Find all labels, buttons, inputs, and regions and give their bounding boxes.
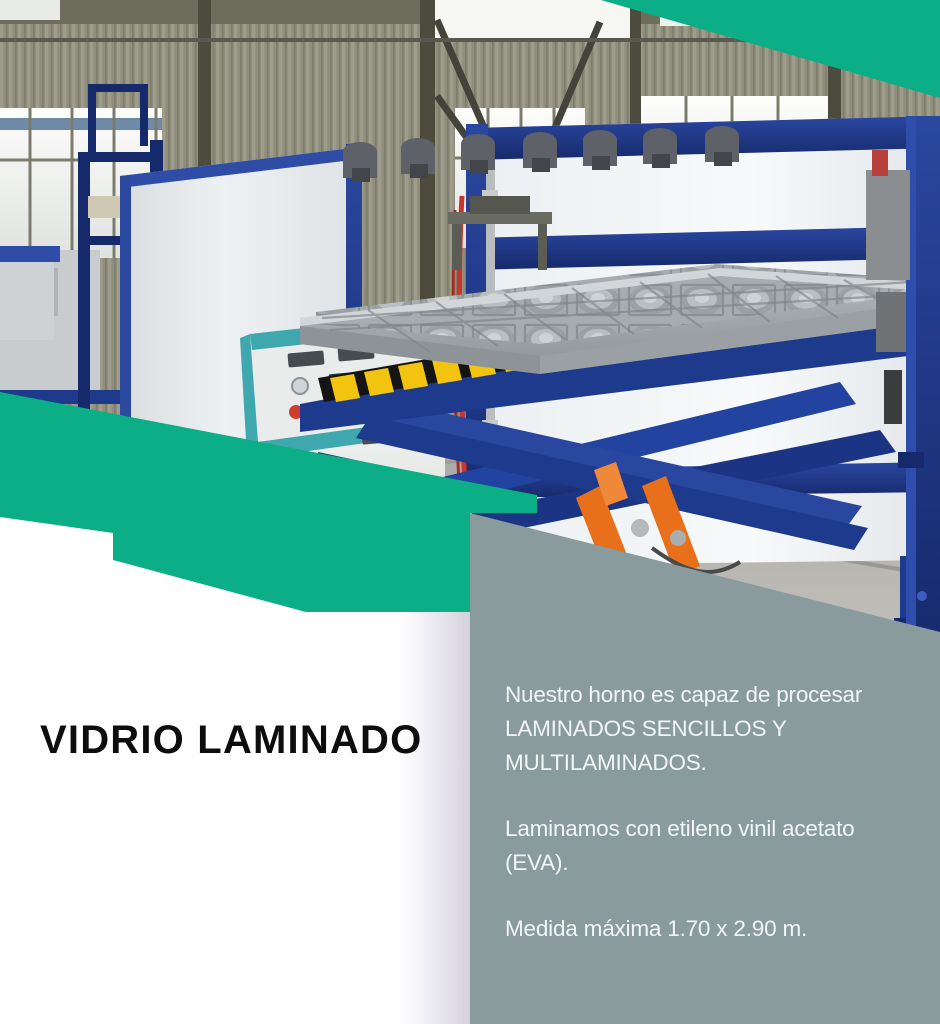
text-line: Medida máxima 1.70 x 2.90 m. [505,912,925,946]
paragraph-capacity: Nuestro horno es capaz de procesar LAMIN… [505,678,925,780]
text-line: Laminamos con etileno vinil acetato [505,812,925,846]
paragraph-material: Laminamos con etileno vinil acetato (EVA… [505,812,925,880]
text-line: LAMINADOS SENCILLOS Y [505,712,925,746]
description-text-block: Nuestro horno es capaz de procesar LAMIN… [505,678,925,946]
slide-root: VIDRIO LAMINADO Nuestro horno es capaz d… [0,0,940,1024]
text-line: MULTILAMINADOS. [505,746,925,780]
text-line: Nuestro horno es capaz de procesar [505,678,925,712]
paragraph-dimensions: Medida máxima 1.70 x 2.90 m. [505,912,925,946]
page-title: VIDRIO LAMINADO [40,718,422,763]
text-line: (EVA). [505,846,925,880]
